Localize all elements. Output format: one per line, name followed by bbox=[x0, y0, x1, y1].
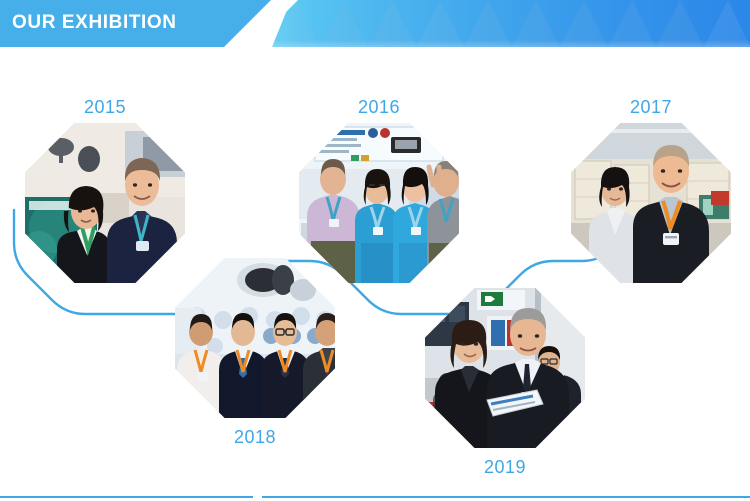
timeline-entry-2015[interactable]: 2015 bbox=[16, 96, 194, 281]
year-label-2015: 2015 bbox=[16, 96, 194, 118]
header-sheen bbox=[272, 40, 750, 47]
section-header-banner: OUR EXHIBITION bbox=[0, 0, 750, 47]
year-label-2019: 2019 bbox=[416, 456, 594, 478]
year-label-2017: 2017 bbox=[562, 96, 740, 118]
exhibition-photo-2015[interactable] bbox=[25, 123, 185, 283]
timeline-entry-2018[interactable]: 2018 bbox=[166, 258, 344, 463]
timeline-entry-2019[interactable]: 2019 bbox=[416, 288, 594, 493]
timeline-entry-2017[interactable]: 2017 bbox=[562, 96, 740, 281]
year-label-2018: 2018 bbox=[166, 426, 344, 448]
footer-divider-left-segment bbox=[0, 496, 253, 498]
footer-divider-right-segment bbox=[262, 496, 750, 498]
exhibition-photo-2018[interactable] bbox=[175, 258, 335, 418]
timeline-entry-2016[interactable]: 2016 bbox=[290, 96, 468, 281]
header-gradient-panel bbox=[272, 0, 750, 47]
year-label-2016: 2016 bbox=[290, 96, 468, 118]
footer-divider bbox=[0, 496, 750, 498]
exhibition-page: OUR EXHIBITION 2015 bbox=[0, 0, 750, 501]
exhibition-photo-2019[interactable] bbox=[425, 288, 585, 448]
exhibition-photo-2017[interactable] bbox=[571, 123, 731, 283]
page-title: OUR EXHIBITION bbox=[12, 11, 177, 35]
